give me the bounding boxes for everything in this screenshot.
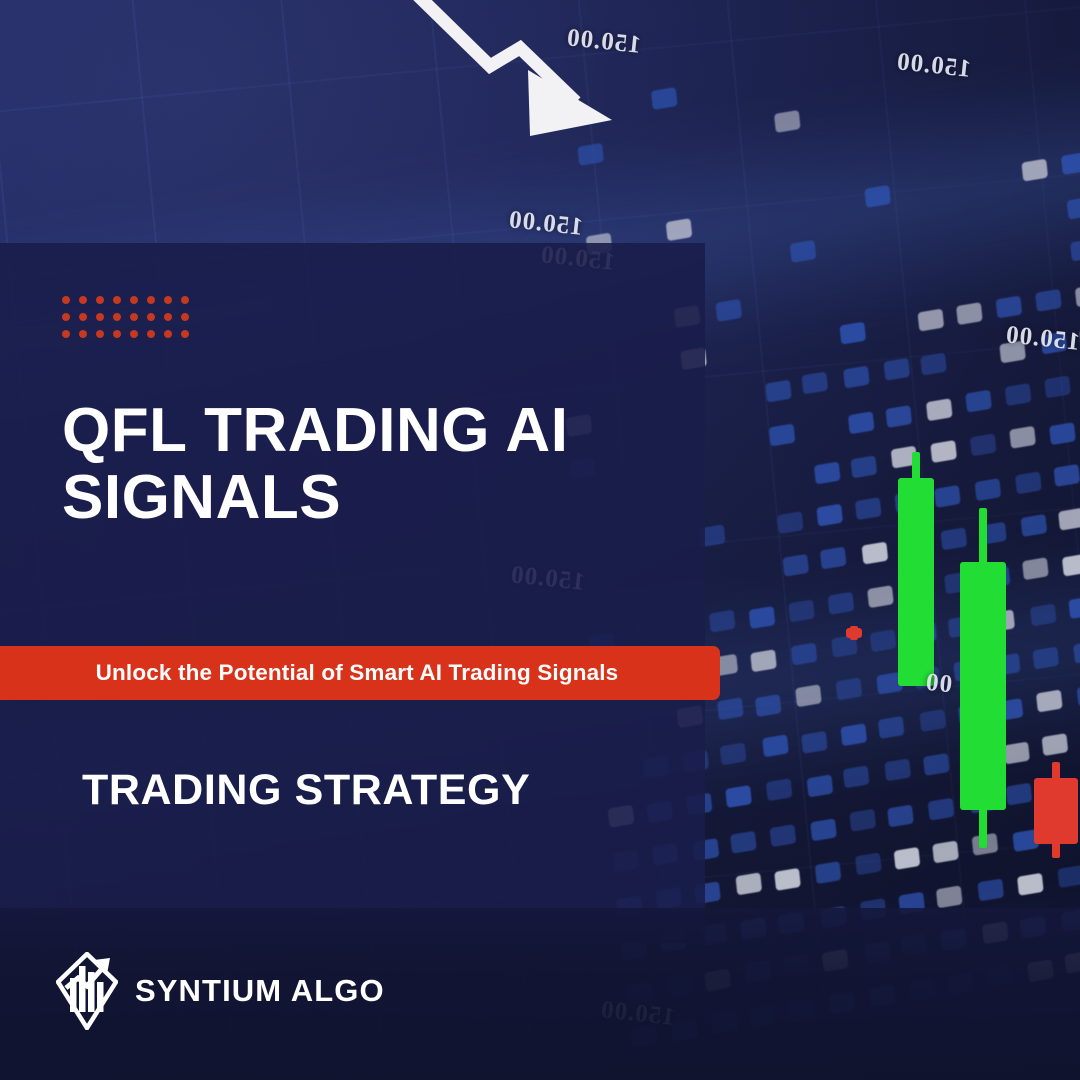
board-tile xyxy=(1075,284,1080,307)
board-tile xyxy=(869,629,896,652)
board-tile xyxy=(816,504,843,527)
board-tile xyxy=(867,585,894,608)
board-tile xyxy=(810,818,837,841)
board-tile xyxy=(855,853,882,876)
board-tile xyxy=(878,716,905,739)
board-tile xyxy=(917,309,944,332)
board-tile xyxy=(888,804,915,827)
board-tile xyxy=(791,643,818,666)
diamond-bar-chart-arrow-icon xyxy=(56,952,118,1030)
grid-dot xyxy=(130,313,138,321)
board-tile xyxy=(843,766,870,789)
board-tile xyxy=(1021,158,1048,181)
tagline-ribbon: Unlock the Potential of Smart AI Trading… xyxy=(0,646,720,700)
poster-canvas: 150.00150.00150.00150.00150.00150.000015… xyxy=(0,0,1080,1080)
grid-dot xyxy=(147,313,155,321)
brand-name: SYNTIUM ALGO xyxy=(135,973,385,1009)
board-tile xyxy=(923,753,950,776)
grid-dot xyxy=(147,330,155,338)
board-tile xyxy=(1033,647,1060,670)
grid-dot xyxy=(113,330,121,338)
tagline-text: Unlock the Potential of Smart AI Trading… xyxy=(0,660,720,686)
board-tile xyxy=(928,798,955,821)
board-tile xyxy=(651,87,678,110)
board-tile xyxy=(920,353,947,376)
board-tile xyxy=(755,694,782,717)
board-tile xyxy=(1070,239,1080,262)
candlestick-body xyxy=(1034,778,1078,844)
grid-dot xyxy=(96,330,104,338)
grid-dot xyxy=(62,330,70,338)
board-tile xyxy=(708,610,735,633)
grid-dot xyxy=(164,296,172,304)
grid-dot xyxy=(62,296,70,304)
board-tile xyxy=(836,678,863,701)
board-tile xyxy=(883,358,910,381)
board-tile xyxy=(715,299,742,322)
board-tile xyxy=(1017,873,1044,896)
board-tile xyxy=(933,840,960,863)
board-tile xyxy=(1005,383,1032,406)
board-tile xyxy=(885,759,912,782)
board-tile xyxy=(666,219,693,242)
decorative-dot-grid xyxy=(62,296,192,341)
grid-dot xyxy=(96,296,104,304)
grid-dot xyxy=(130,296,138,304)
board-tile xyxy=(735,873,762,896)
board-tile xyxy=(1068,596,1080,619)
board-tile xyxy=(770,824,797,847)
board-tile xyxy=(1073,640,1080,663)
board-tile xyxy=(815,861,842,884)
board-tile xyxy=(977,879,1004,902)
board-tile xyxy=(802,372,829,395)
board-tile xyxy=(788,599,815,622)
grid-dot xyxy=(113,296,121,304)
brand-logo: SYNTIUM ALGO xyxy=(56,952,385,1030)
board-tile xyxy=(861,542,888,565)
grid-dot xyxy=(79,330,87,338)
board-tile xyxy=(730,830,757,853)
board-tile xyxy=(827,592,854,615)
board-tile xyxy=(975,478,1002,501)
subheading: TRADING STRATEGY xyxy=(82,766,530,815)
board-tile xyxy=(840,723,867,746)
board-tile xyxy=(1054,464,1080,487)
grid-dot xyxy=(79,296,87,304)
grid-dot xyxy=(96,313,104,321)
candlestick-body xyxy=(898,478,934,686)
content-panel xyxy=(0,243,705,943)
board-tile xyxy=(765,778,792,801)
board-tile xyxy=(774,868,801,891)
board-tile xyxy=(843,366,870,389)
board-tile xyxy=(934,485,961,508)
board-tile xyxy=(849,809,876,832)
grid-dot xyxy=(181,313,189,321)
board-tile xyxy=(1036,690,1063,713)
board-tile xyxy=(1062,553,1080,576)
board-tile xyxy=(965,390,992,413)
board-tile xyxy=(1049,422,1076,445)
board-tile xyxy=(956,302,983,325)
board-tile xyxy=(820,547,847,570)
board-tile xyxy=(777,511,804,534)
board-tile xyxy=(1020,514,1047,537)
board-tile xyxy=(855,497,882,520)
board-tile xyxy=(774,110,801,133)
page-title: QFL TRADING AI SIGNALS xyxy=(62,398,682,532)
board-tile xyxy=(970,433,997,456)
board-tile xyxy=(807,774,834,797)
board-tile xyxy=(839,321,866,344)
board-tile xyxy=(795,685,822,708)
grid-dot xyxy=(181,296,189,304)
board-tile xyxy=(936,886,963,909)
board-tile xyxy=(930,440,957,463)
board-tile xyxy=(1044,376,1071,399)
board-tile xyxy=(894,847,921,870)
grid-dot xyxy=(164,313,172,321)
board-tile xyxy=(1009,426,1036,449)
board-tile xyxy=(782,554,809,577)
board-tile xyxy=(1030,603,1057,626)
board-tile xyxy=(920,709,947,732)
board-tile xyxy=(848,411,875,434)
down-arrow-icon xyxy=(380,0,640,160)
grid-dot xyxy=(79,313,87,321)
board-tile xyxy=(851,455,878,478)
board-tile xyxy=(717,697,744,720)
board-tile xyxy=(765,380,792,403)
board-tile xyxy=(1041,733,1068,756)
board-tile xyxy=(1003,741,1030,764)
board-tile xyxy=(885,405,912,428)
grid-dot xyxy=(62,313,70,321)
board-tile xyxy=(789,240,816,263)
board-tile xyxy=(1035,288,1062,311)
grid-dot xyxy=(164,330,172,338)
candlestick-body xyxy=(960,562,1006,810)
board-tile xyxy=(1057,865,1080,888)
board-tile xyxy=(926,398,953,421)
grid-dot xyxy=(113,313,121,321)
grid-dot xyxy=(147,296,155,304)
board-tile xyxy=(750,649,777,672)
board-tile xyxy=(1061,152,1080,175)
board-tile xyxy=(1006,783,1033,806)
board-tile xyxy=(720,743,747,766)
board-tile xyxy=(725,785,752,808)
board-tile xyxy=(814,461,841,484)
board-tile xyxy=(940,527,967,550)
board-tile xyxy=(749,606,776,629)
grid-dot xyxy=(181,330,189,338)
board-tile xyxy=(996,295,1023,318)
board-tile xyxy=(1067,196,1080,219)
price-label: 00 xyxy=(924,669,954,700)
board-tile xyxy=(1022,557,1049,580)
grid-dot xyxy=(130,330,138,338)
board-tile xyxy=(1076,684,1080,707)
board-tile xyxy=(801,731,828,754)
red-trend-line-icon xyxy=(140,0,270,40)
board-tile xyxy=(762,734,789,757)
candlestick-body xyxy=(846,628,862,638)
board-tile xyxy=(769,424,796,447)
board-tile xyxy=(1015,472,1042,495)
board-tile xyxy=(864,185,891,208)
board-tile xyxy=(1058,508,1080,531)
